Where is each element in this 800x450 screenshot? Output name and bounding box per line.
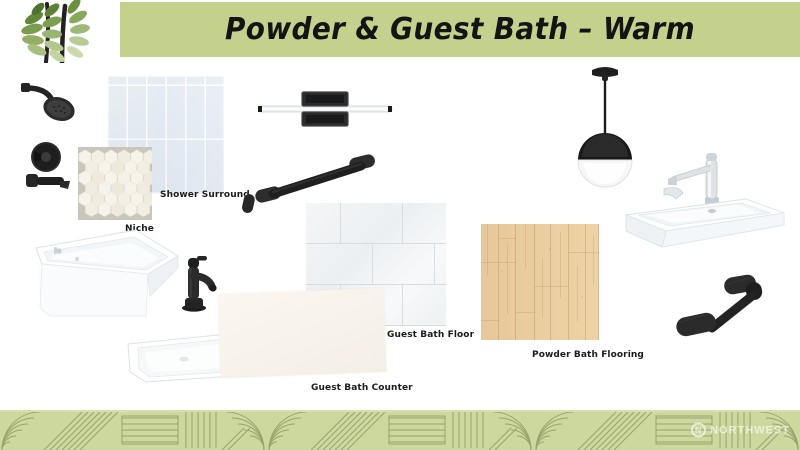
caption-guest-bath-floor: Guest Bath Floor [387,330,474,340]
fern-leaf-logo [2,0,120,63]
swatch-niche[interactable] [78,147,152,220]
page-title: Powder & Guest Bath – Warm [144,2,776,57]
vanity-light-icon [256,86,394,134]
watermark-text: NORTHWEST [710,424,790,436]
toilet-paper-holder-icon [664,270,772,354]
swatch-powder-bath-flooring[interactable] [481,224,599,340]
lavatory-faucet-icon [180,250,220,312]
swatch-guest-bath-counter[interactable] [217,288,386,378]
caption-shower-surround: Shower Surround [160,190,250,200]
footer-pattern [0,410,800,450]
slide-canvas: Powder & Guest Bath – Warm Shower Surrou… [0,0,800,450]
robe-hook-icon [240,192,258,216]
watermark: N NORTHWEST [691,423,790,438]
shower-head-icon [18,78,82,130]
caption-powder-bath-flooring: Powder Bath Flooring [532,350,644,360]
footer-band: N NORTHWEST [0,410,800,450]
bathtub-icon [28,212,188,322]
wall-mount-sink-icon [620,135,790,255]
tub-spout-icon [24,168,76,196]
logo-box [0,0,120,63]
hexagon-mosaic-pattern [78,147,152,220]
watermark-badge: N [691,423,706,438]
caption-guest-bath-counter: Guest Bath Counter [311,383,413,393]
